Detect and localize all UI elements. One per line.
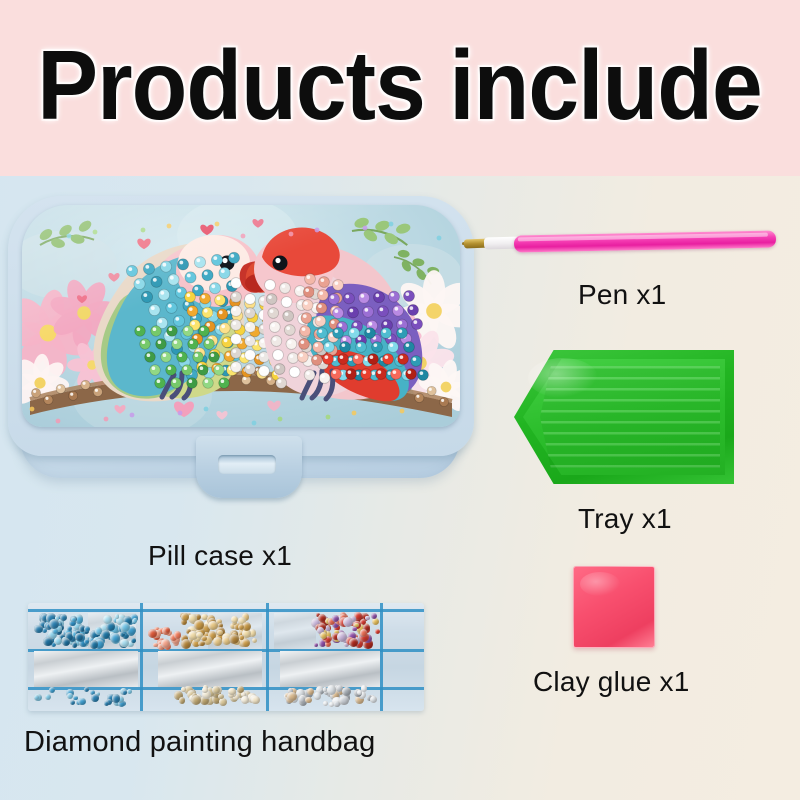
rhinestone (241, 639, 250, 648)
clay-glue-label: Clay glue x1 (533, 666, 689, 698)
rhinestone (212, 686, 220, 694)
rhinestone (90, 640, 99, 649)
rhinestone (357, 690, 362, 695)
pill-case-image (8, 196, 478, 496)
rhinestone (91, 694, 98, 701)
rhinestone (52, 628, 58, 634)
rhinestone (133, 618, 137, 622)
handbag-foil-3 (280, 651, 380, 687)
rhinestone (365, 616, 370, 621)
pill-case-latch (196, 436, 302, 498)
handbag-foil-2 (158, 651, 262, 687)
rhinestone (252, 638, 258, 644)
pill-case-lid (8, 196, 474, 456)
rhinestone (231, 616, 238, 623)
rhinestone (305, 697, 311, 703)
rhinestone (131, 638, 135, 642)
rhinestone (299, 696, 305, 702)
pill-case-artwork (22, 205, 460, 427)
handbag-image (28, 603, 424, 711)
rhinestone (70, 700, 75, 705)
rhinestone (179, 697, 186, 704)
handbag-divider-1 (140, 603, 143, 711)
pen-image (462, 228, 784, 262)
tray-image (514, 350, 734, 484)
handbag-stones-blue-1 (34, 613, 90, 649)
rhinestone (101, 630, 110, 639)
handbag-label: Diamond painting handbag (24, 726, 375, 759)
rhinestone (181, 687, 186, 692)
rhinestone (49, 687, 55, 693)
handbag-divider-2 (266, 603, 269, 711)
pen-label: Pen x1 (578, 279, 666, 311)
rhinestone (84, 687, 89, 692)
rhinestone (370, 696, 378, 704)
rhinestone (161, 639, 170, 648)
pill-case-label: Pill case x1 (148, 540, 292, 572)
rhinestone (174, 631, 181, 638)
rhinestone (71, 617, 76, 622)
rhinestone (112, 694, 121, 703)
rhinestone (337, 632, 347, 642)
rhinestone (191, 695, 201, 705)
rhinestone (194, 620, 203, 629)
handbag-foil-1 (34, 651, 138, 687)
rhinestone (237, 686, 244, 693)
rhinestone (110, 633, 120, 643)
rhinestone (148, 629, 157, 638)
clay-glue-image (573, 566, 655, 648)
handbag-stones-blue-2 (88, 613, 140, 649)
rhinestone (202, 687, 208, 693)
pen-body (514, 230, 776, 252)
handbag-stones-gold (180, 613, 258, 649)
rhinestone (372, 618, 379, 625)
rhinestone (73, 696, 77, 700)
rhinestone (241, 696, 249, 704)
rhinestone (228, 688, 236, 696)
rhinestone (127, 689, 132, 694)
rhinestone (339, 696, 349, 706)
rhinestone (181, 613, 189, 621)
handbag-stones-multi (310, 611, 380, 649)
handbag-stones-bottom-blue (34, 687, 134, 707)
rhinestone (43, 637, 52, 646)
page-title: Products include (38, 36, 762, 140)
rhinestone (60, 614, 67, 621)
rhinestone (314, 692, 321, 699)
pill-case-latch-slot (218, 455, 276, 474)
rhinestone (122, 690, 127, 695)
rhinestone (251, 696, 259, 704)
rhinestone (54, 637, 62, 645)
tray-highlight (528, 358, 598, 398)
handbag-stones-bottom-mixed (284, 685, 380, 707)
rhinestone (360, 629, 367, 636)
bird-artwork-svg (22, 205, 460, 427)
handbag-stones-bottom-gold (174, 685, 264, 707)
rhinestone (72, 642, 78, 648)
rhinestone (323, 701, 328, 706)
rhinestone (219, 698, 227, 706)
rhinestone (314, 643, 319, 648)
clay-glue-square (573, 566, 655, 648)
rhinestone (196, 632, 203, 639)
rhinestone (287, 692, 296, 701)
rhinestone (104, 701, 109, 706)
rhinestone (375, 629, 380, 634)
tray-label: Tray x1 (578, 503, 672, 535)
rhinestone (239, 635, 244, 640)
header-banner: Products include (0, 0, 800, 176)
product-include-infographic: Products include Pill case x1 Pen x1 Tra… (0, 0, 800, 800)
rhinestone (120, 639, 129, 648)
rhinestone (153, 643, 158, 648)
rhinestone (62, 638, 70, 646)
rhinestone (45, 694, 51, 700)
rhinestone (323, 687, 328, 692)
rhinestone (343, 617, 353, 627)
rhinestone (199, 641, 205, 647)
rhinestone (67, 693, 73, 699)
rhinestone (78, 698, 86, 706)
handbag-bag (28, 603, 424, 711)
rhinestone (213, 637, 222, 646)
handbag-stones-coral (148, 627, 182, 651)
handbag-divider-3 (380, 603, 383, 711)
